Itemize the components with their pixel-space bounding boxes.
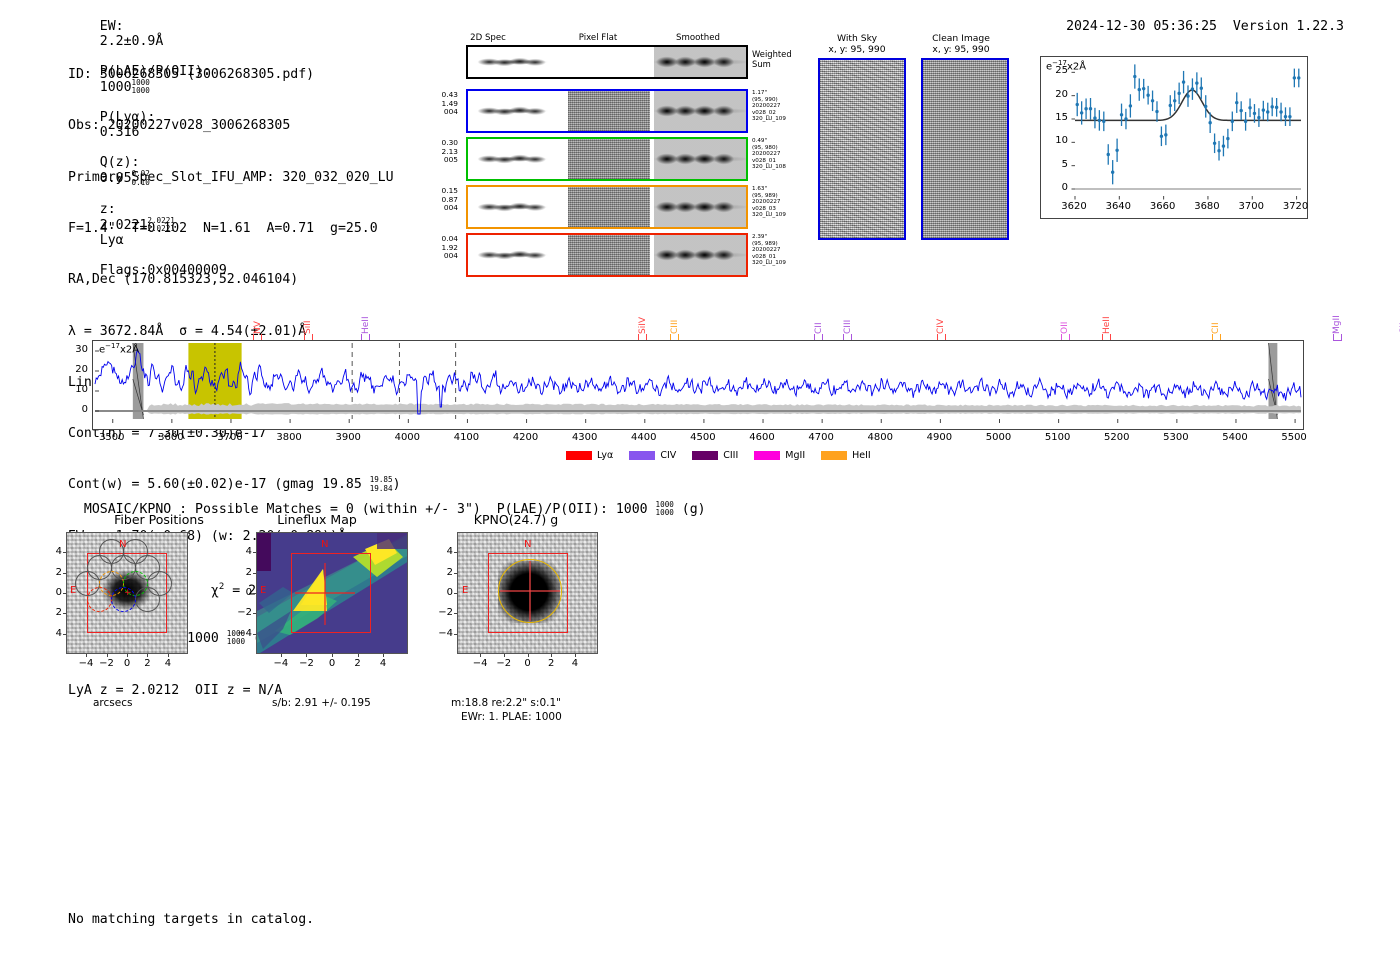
fiber-row-right-labels: 0.49"(95, 980)20200227v028_01320_LU_108 [752,138,812,171]
lineflux-map-xtick-mark [306,654,307,657]
mainspec-xtick-label: 5500 [1272,432,1316,443]
lineflux-map-xtick-mark [281,654,282,657]
kpno-image-ytick-label: −4 [433,628,453,639]
fiber-pixelflat-image [568,91,650,131]
fiber-positions-xtick-mark [168,654,169,657]
version-text: Version 1.22.3 [1233,19,1344,34]
emission-line-label: CIII [843,304,853,334]
full-spectrum-svg [93,341,1303,429]
legend-swatch [754,451,780,460]
fiber-right-label: v028_01 [752,158,812,165]
lineflux-map-xtick-mark [383,654,384,657]
fiber-row-left-labels: 0.302.13005 [424,139,458,165]
spec2d-fiber-row[interactable] [466,185,748,229]
emission-line-label: CII [1211,304,1221,334]
kpno-image-ytick-mark [454,573,457,574]
lineflux-map-ytick-mark [253,552,256,553]
lineflux-map-ytick-mark [253,593,256,594]
fiber-row-right-labels: 2.39"(95, 989)20200227v028_01320_LU_109 [752,234,812,267]
fiber-right-label: 2.39" [752,234,812,241]
fiber-right-label: (95, 990) [752,97,812,104]
weighted-sum-2dspec-image [468,47,564,77]
lineflux-map-xtick-label: −2 [292,658,320,669]
mainspec-ytick-label: 20 [66,364,88,375]
lineflux-map-xtick-label: 4 [369,658,397,669]
kpno-caption-line1: m:18.8 re:2.2" s:0.1" [451,697,561,709]
lineflux-map-image[interactable]: N E [256,532,408,654]
fiber-pixelflat-image [568,187,650,227]
kpno-caption-line2: EWr: 1. PLAE: 1000 [461,711,562,723]
compass-north-fiber: N [119,539,126,550]
legend-item: HeII [821,450,871,461]
linefit-xtick-label: 3640 [1103,201,1133,212]
fiber-positions-ytick-label: 2 [42,567,62,578]
fiber-right-label: 320_LU_108 [752,164,812,171]
fiber-2dspec-image [468,235,564,275]
mainspec-xtick-label: 3900 [326,432,370,443]
mainspec-ytick-label: 0 [66,404,88,415]
emission-line-label: HeII [361,304,371,334]
fiber-right-label: 320_LU_109 [752,260,812,267]
info-slot: Primary Spec_Slot_IFU_AMP: 320_032_020_L… [68,169,401,186]
fiber-right-label: v028_03 [752,206,812,213]
linefit-xtick-label: 3620 [1059,201,1089,212]
fiber-positions-xtick-label: 4 [154,658,182,669]
fiber-smoothed-image [654,139,746,179]
mainspec-xtick-label: 4300 [563,432,607,443]
mainspec-xtick-label: 5000 [977,432,1021,443]
emission-line-label: CIII [670,304,680,334]
emission-line-label: SiIV [638,304,648,334]
fiber-right-label: 1.17" [752,90,812,97]
kpno-image[interactable]: N E [457,532,598,654]
with-sky-texture [820,60,904,238]
kpno-image-xtick-mark [575,654,576,657]
lineflux-map-ytick-label: −4 [232,628,252,639]
line-fit-svg [1041,57,1307,218]
fiber-2dspec-image [468,139,564,179]
fiber-smoothed-image [654,235,746,275]
fiber-positions-xlabel: arcsecs [93,697,132,709]
lineflux-map-xtick-label: −4 [267,658,295,669]
weighted-sum-pixelflat-image [565,47,651,77]
fiber-row-left-labels: 0.431.49004 [424,91,458,117]
linefit-xtick-label: 3660 [1148,201,1178,212]
linefit-ytick-label: 15 [1046,112,1068,123]
fiber-right-label: 1.63" [752,186,812,193]
fiber-right-label: 320_LU_109 [752,212,812,219]
fiber-row-left-labels: 0.041.92004 [424,235,458,261]
mainspec-xtick-label: 4500 [681,432,725,443]
legend-item: MgII [754,450,805,461]
spec2d-col-title-pixelflat: Pixel Flat [558,33,638,43]
info-id: ID: 3006268305 (3006268305.pdf) [68,66,401,83]
lineflux-map-ytick-mark [253,573,256,574]
spec2d-fiber-row[interactable] [466,89,748,133]
emission-line-label: OII [1060,304,1070,334]
mainspec-xtick-label: 3500 [90,432,134,443]
timestamp-text: 2024-12-30 05:36:25 [1066,19,1217,34]
fiber-right-label: (95, 980) [752,145,812,152]
emission-line-label: SiII [303,304,313,334]
fiber-positions-ytick-label: 2 [42,607,62,618]
fiber-left-label: 005 [424,156,458,165]
emission-line-label: CII [814,304,824,334]
kpno-image-ytick-label: 0 [433,587,453,598]
info-plae-sub: 1000 [227,638,245,646]
linefit-ytick-label: 25 [1046,65,1068,76]
clean-image[interactable] [921,58,1009,240]
info-lambda: λ = 3672.84Å σ = 4.54(±2.01)Å [68,323,401,340]
with-sky-image[interactable] [818,58,906,240]
spec2d-col-title-2dspec: 2D Spec [448,33,528,43]
fiber-right-label: 320_LU_109 [752,116,812,123]
mainspec-xtick-label: 4800 [858,432,902,443]
mainspec-xtick-label: 5400 [1213,432,1257,443]
mainspec-xtick-label: 4100 [444,432,488,443]
lineflux-map-xtick-label: 2 [344,658,372,669]
fiber-2dspec-image [468,187,564,227]
lineflux-map-ytick-mark [253,634,256,635]
legend-label: Lyα [597,450,613,461]
mainspec-ytick-label: 30 [66,344,88,355]
fiber-right-label: 20200227 [752,199,812,206]
clean-image-texture [923,60,1007,238]
lineflux-map-xtick-label: 0 [318,658,346,669]
emission-line-label: HeII [1102,304,1112,334]
emission-line-label: NV [253,304,263,334]
fiber-center-marker: + [124,588,132,598]
kpno-image-ytick-label: −2 [433,607,453,618]
mosaic-post-text: (g) [674,502,706,517]
fiber-positions-ytick-label: 0 [42,587,62,598]
mainspec-units-annotation: e−17x2Å [99,342,139,355]
spectrum-legend: LyαCIVCIIIMgIIHeII [566,450,871,461]
fiber-left-label: 004 [424,252,458,261]
info-radec: RA,Dec (170.815323,52.046104) [68,271,401,288]
kpno-image-xtick-mark [528,654,529,657]
cutout-clean-title: Clean Image [911,33,1011,44]
kpno-image-title: KPNO(24.7) g [421,512,611,527]
fiber-right-label: v028_02 [752,110,812,117]
kpno-crosshair [458,533,598,654]
fiber-positions-xtick-mark [86,654,87,657]
legend-label: CIII [723,450,738,461]
kpno-image-ytick-mark [454,593,457,594]
mainspec-xtick-label: 3700 [208,432,252,443]
kpno-image-xtick-mark [551,654,552,657]
mainspec-xtick-label: 3600 [149,432,193,443]
mainspec-xtick-label: 4600 [740,432,784,443]
fiber-right-label: 0.49" [752,138,812,145]
fiber-positions-ytick-mark [63,634,66,635]
fiber-right-label: 20200227 [752,247,812,254]
lineflux-map-ytick-label: 4 [232,546,252,557]
fiber-row-right-labels: 1.63"(95, 989)20200227v028_03320_LU_109 [752,186,812,219]
full-spectrum-plot[interactable]: e−17x2Å [92,340,1304,430]
fiber-positions-ytick-mark [63,573,66,574]
compass-north-lineflux: N [321,539,328,550]
mainspec-xtick-label: 5300 [1154,432,1198,443]
fiber-positions-xtick-mark [107,654,108,657]
emission-line-tick [1333,334,1342,341]
spec2d-weighted-sum-row [466,45,748,79]
weighted-sum-label: Weighted Sum [752,50,792,69]
lineflux-map-title: Lineflux Map [222,512,412,527]
lineflux-map-ytick-label: 0 [232,587,252,598]
lineflux-map-ytick-mark [253,613,256,614]
emission-line-label: CIV [936,304,946,334]
weighted-sum-label-line2: Sum [752,60,792,70]
legend-swatch [629,451,655,460]
kpno-image-xtick-label: 4 [561,658,589,669]
fiber-left-label: 004 [424,108,458,117]
legend-swatch [692,451,718,460]
kpno-image-ytick-mark [454,613,457,614]
legend-item: CIII [692,450,738,461]
lineflux-map-xtick-mark [332,654,333,657]
fiber-pixelflat-image [568,235,650,275]
footer-note: No matching targets in catalog. Row inte… [68,876,314,953]
mosaic-plae-sub: 1000 [656,509,674,517]
kpno-image-ytick-label: 2 [433,567,453,578]
cutout-with-sky-title: With Sky [807,33,907,44]
fiber-circle-red [87,587,112,612]
linefit-ytick-label: 20 [1046,89,1068,100]
linefit-ytick-label: 10 [1046,135,1068,146]
cutout-title-with-sky: With Sky x, y: 95, 990 [807,33,907,55]
compass-east-kpno: E [462,585,468,596]
mainspec-xtick-label: 5100 [1036,432,1080,443]
fiber-positions-ytick-mark [63,613,66,614]
linefit-xtick-label: 3700 [1236,201,1266,212]
fiber-positions-ytick-label: 4 [42,546,62,557]
mainspec-xtick-label: 3800 [267,432,311,443]
lineflux-crosshair [257,533,408,654]
kpno-image-xtick-mark [480,654,481,657]
mainspec-xtick-label: 4000 [385,432,429,443]
spec2d-panel-group: 2D Spec Pixel Flat Smoothed Weighted Sum… [430,33,790,253]
legend-label: MgII [785,450,805,461]
fiber-positions-ytick-mark [63,552,66,553]
weighted-sum-smoothed-image [654,47,746,77]
linefit-xtick-label: 3680 [1192,201,1222,212]
legend-label: CIV [660,450,676,461]
fiber-positions-ytick-label: 4 [42,628,62,639]
legend-item: CIV [629,450,676,461]
lineflux-map-xtick-mark [358,654,359,657]
header-bar: EW: 2.2±0.9Å P(LAE)/P(OII): 100010001000… [0,4,1400,26]
kpno-image-xtick-mark [504,654,505,657]
mainspec-xtick-label: 4900 [917,432,961,443]
kpno-image-ytick-label: 4 [433,546,453,557]
fiber-right-label: (95, 989) [752,241,812,248]
fiber-row-right-labels: 1.17"(95, 990)20200227v028_02320_LU_109 [752,90,812,123]
legend-swatch [566,451,592,460]
mainspec-xtick-label: 4200 [504,432,548,443]
cutout-title-clean-image: Clean Image x, y: 95, 990 [911,33,1011,55]
compass-north-kpno: N [524,539,531,550]
legend-item: Lyα [566,450,613,461]
fiber-left-label: 004 [424,204,458,213]
fiber-smoothed-image [654,187,746,227]
cutout-clean-subtitle: x, y: 95, 990 [911,44,1011,55]
fiber-right-label: 20200227 [752,103,812,110]
fiber-right-label: v028_01 [752,254,812,261]
legend-label: HeII [852,450,871,461]
linefit-xtick-label: 3720 [1281,201,1311,212]
spec2d-fiber-row[interactable] [466,137,748,181]
spec2d-fiber-row[interactable] [466,233,748,277]
mainspec-xtick-label: 4400 [622,432,666,443]
info-obs: Obs: 20200227v028_3006268305 [68,117,401,134]
mainspec-ytick-label: 10 [66,384,88,395]
fiber-right-label: 20200227 [752,151,812,158]
kpno-image-ytick-mark [454,634,457,635]
fiber-positions-image[interactable]: + N E [66,532,188,654]
fiber-smoothed-image [654,91,746,131]
mainspec-xtick-label: 4700 [799,432,843,443]
fiber-pixelflat-image [568,139,650,179]
line-fit-zoom-plot[interactable]: e−17x2Å [1040,56,1308,219]
fiber-row-left-labels: 0.150.87004 [424,187,458,213]
info-seeing: F=1.4" T=0.102 N=1.61 A=0.71 g=25.0 [68,220,401,237]
kpno-image-ytick-mark [454,552,457,553]
linefit-ytick-label: 0 [1046,182,1068,193]
compass-east-lineflux: E [260,585,266,596]
footer-line-1: No matching targets in catalog. [68,911,314,929]
lineflux-map-caption: s/b: 2.91 +/- 0.195 [272,697,371,709]
lineflux-map-ytick-label: −2 [232,607,252,618]
mosaic-plae-range: 10001000 [656,501,674,517]
spec2d-col-title-smoothed: Smoothed [658,33,738,43]
compass-east-fiber: E [70,585,76,596]
linefit-ytick-label: 5 [1046,159,1068,170]
legend-swatch [821,451,847,460]
lineflux-map-ytick-label: 2 [232,567,252,578]
mainspec-xtick-label: 5200 [1095,432,1139,443]
fiber-positions-xtick-mark [147,654,148,657]
fiber-positions-ytick-mark [63,593,66,594]
fiber-right-label: (95, 989) [752,193,812,200]
fiber-positions-xtick-mark [127,654,128,657]
emission-line-label: MgII [1332,304,1342,334]
fiber-2dspec-image [468,91,564,131]
header-timestamp-version: 2024-12-30 05:36:25 Version 1.22.3 [1034,4,1344,49]
cutout-with-sky-subtitle: x, y: 95, 990 [807,44,907,55]
